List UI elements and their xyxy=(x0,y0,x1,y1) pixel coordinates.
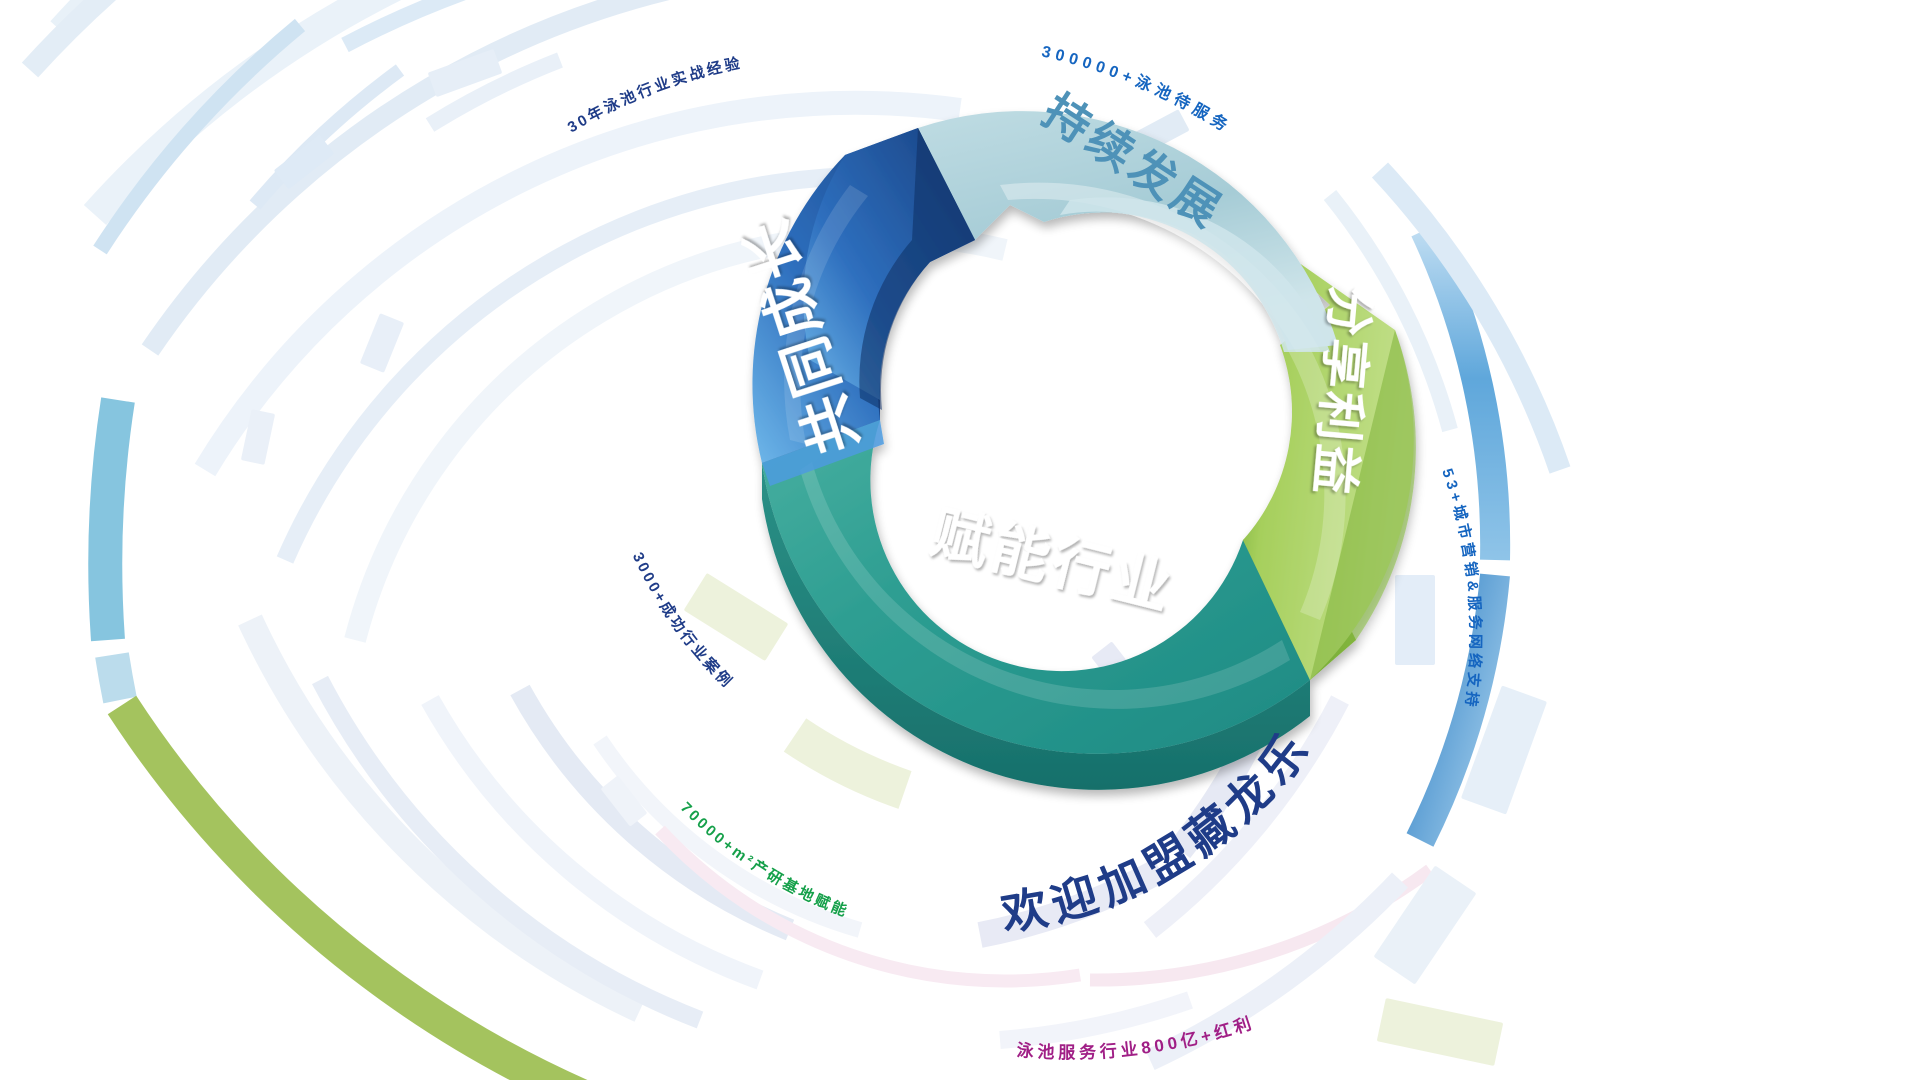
callout-network: 53+城市营销&服务网络支持 xyxy=(1438,466,1484,711)
diagram-canvas: 共同成长 持续发展 分享利益 赋能行业 30年泳池行业实战经验 300000+泳… xyxy=(0,0,1920,1080)
circular-cycle-diagram: 共同成长 持续发展 分享利益 赋能行业 30年泳池行业实战经验 300000+泳… xyxy=(0,0,1920,1080)
